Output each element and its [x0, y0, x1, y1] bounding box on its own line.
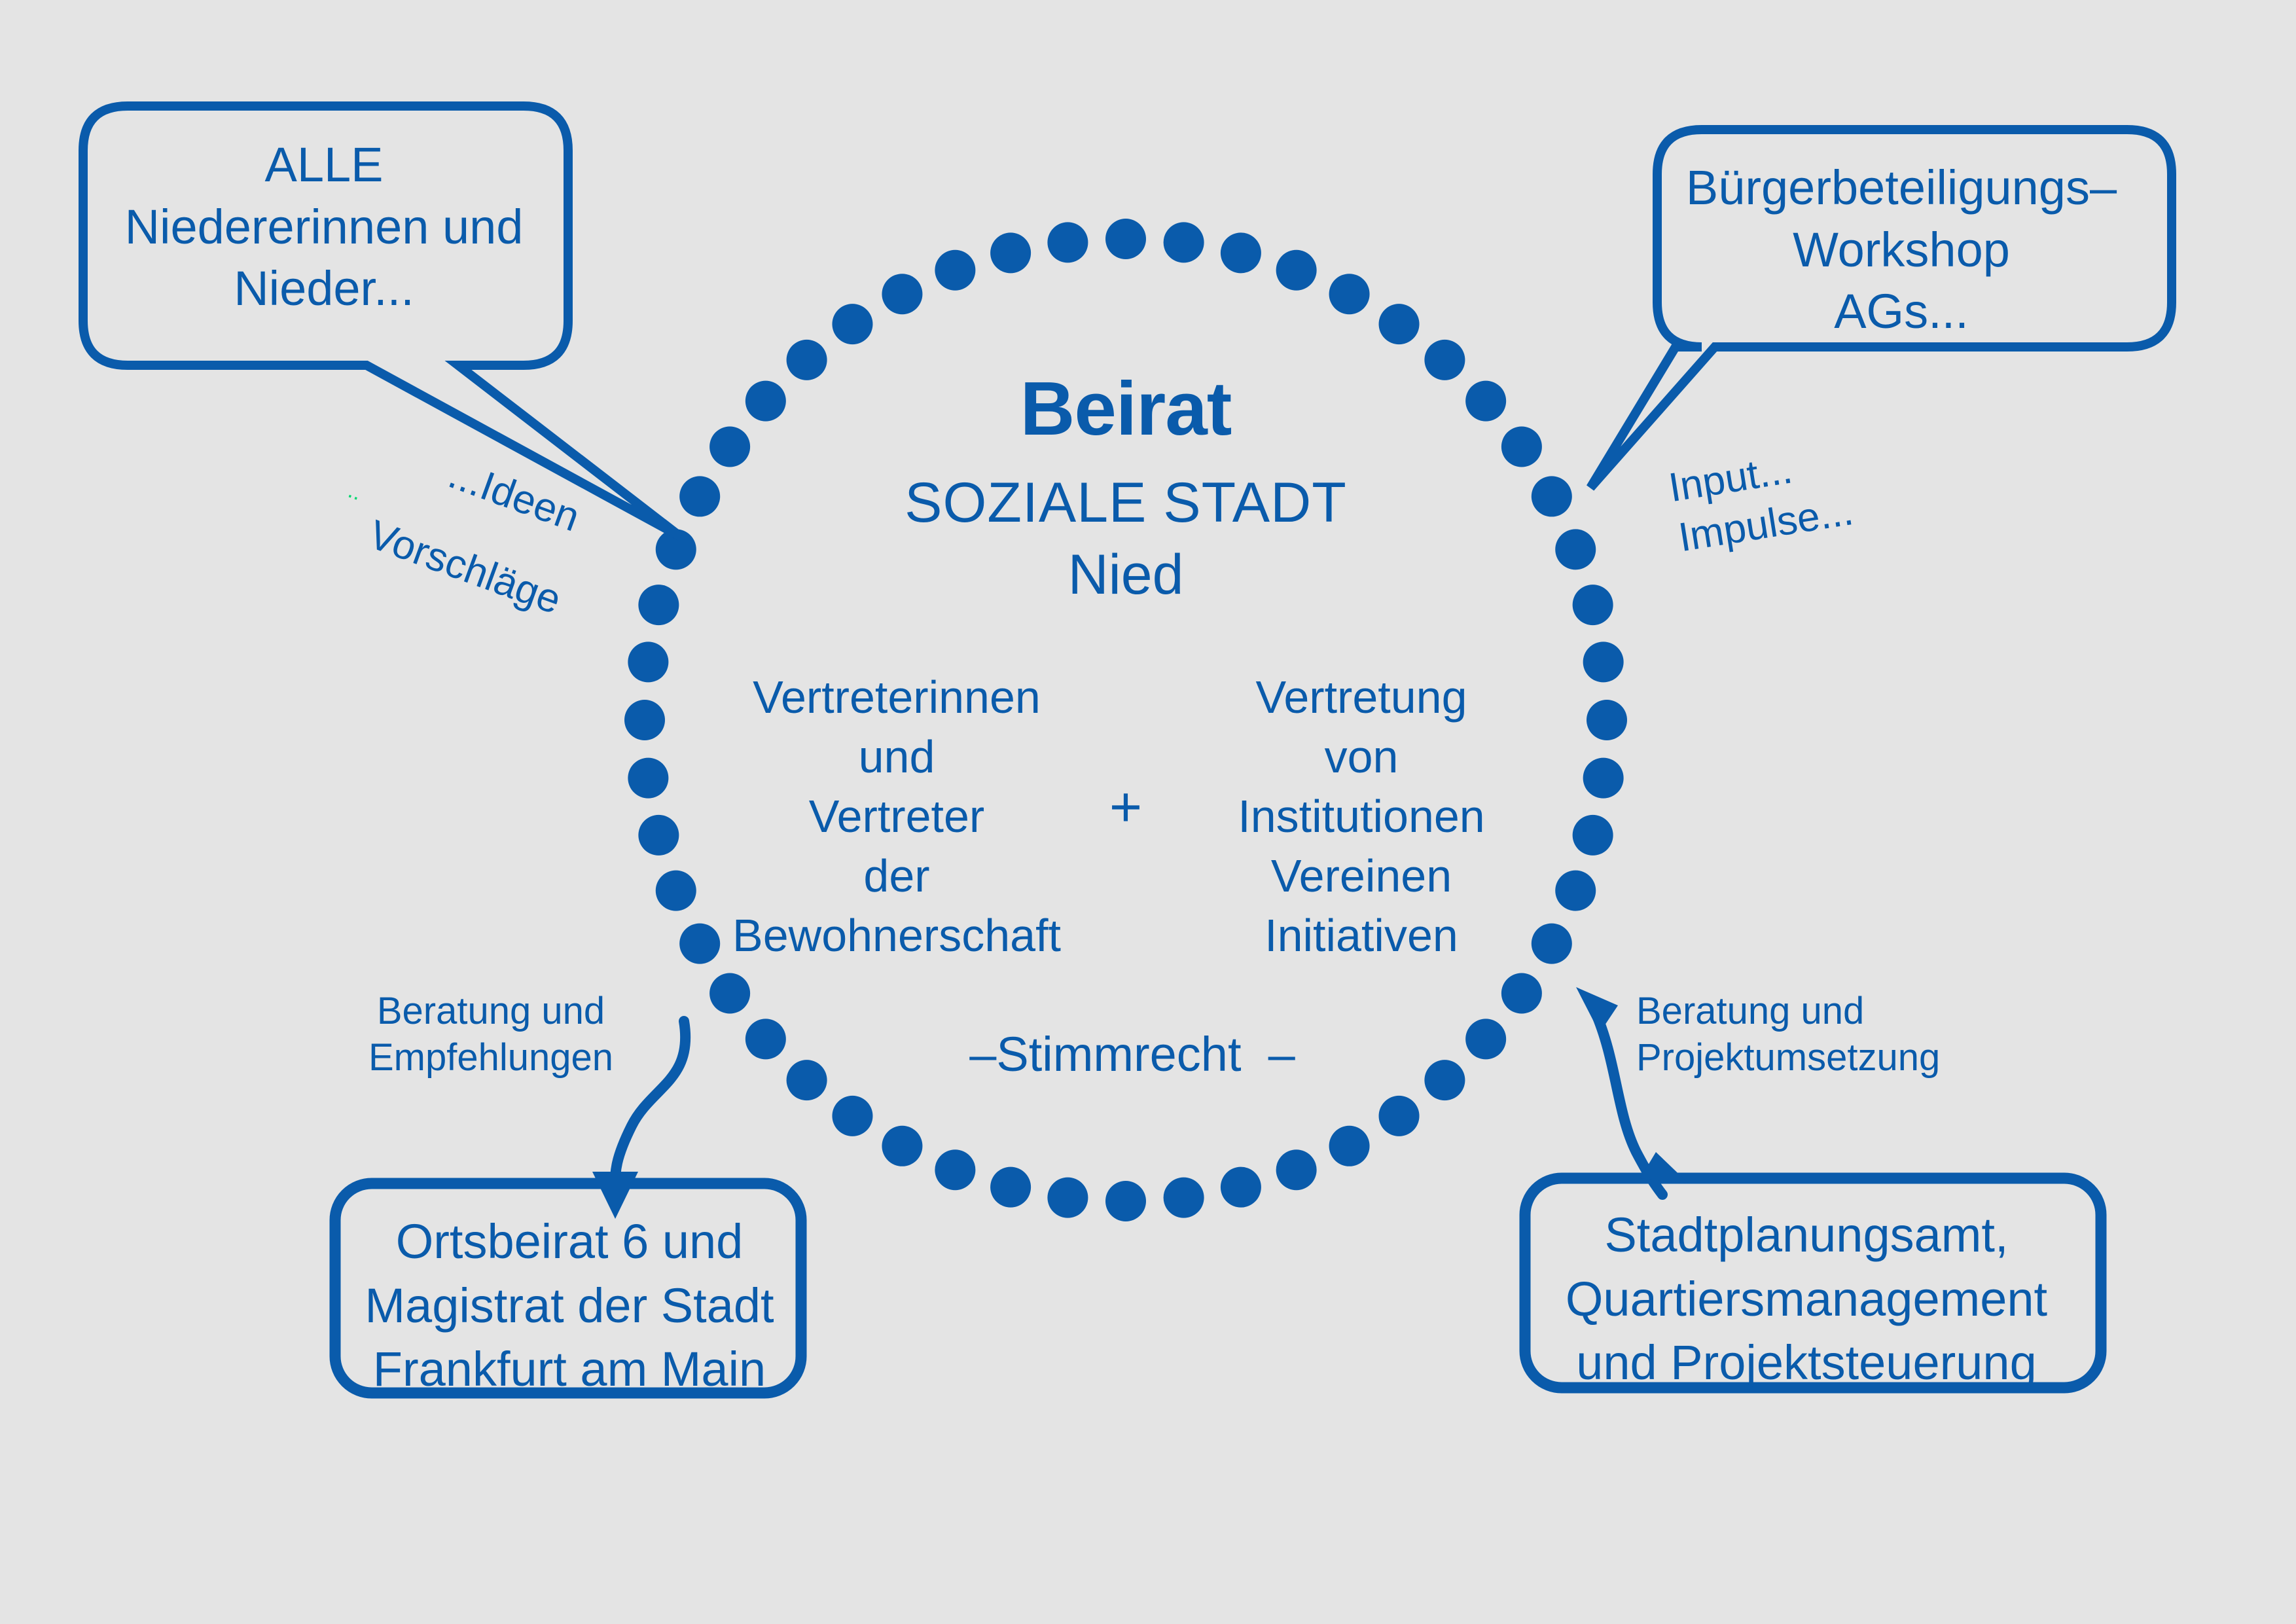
ring-dot: [1105, 219, 1146, 259]
ring-dot: [1276, 250, 1317, 291]
ring-dot: [628, 758, 668, 799]
ring-dot: [990, 1167, 1031, 1208]
ring-dot: [1587, 700, 1627, 740]
box-bottom-right-label: Stadtplanungsamt, Quartiersmanagement un…: [1525, 1203, 2088, 1395]
stimmrecht-note: –Stimmrecht –: [929, 1028, 1335, 1082]
ring-dot: [787, 1060, 827, 1100]
diagram-canvas: Beirat SOZIALE STADT Nied Vertreterinnen…: [0, 0, 2296, 1624]
member-column-institutions: Vertretung von Institutionen Vereinen In…: [1178, 668, 1545, 965]
annotation-beratung-projektumsetzung: Beratung und Projektumsetzung: [1636, 988, 1964, 1081]
bubble-top-right-label: Bürgerbeteiligungs– Workshop AGs...: [1666, 157, 2137, 343]
ring-dot: [1221, 1167, 1261, 1208]
bubble-top-left-label: ALLE Niedererinnen und Nieder...: [88, 134, 560, 320]
ring-dot: [1583, 641, 1624, 682]
ring-dot: [1583, 758, 1624, 799]
subtitle-nied: Nied: [733, 543, 1518, 606]
ring-dot: [832, 1096, 872, 1136]
ring-dot: [709, 973, 750, 1014]
ring-dot: [1221, 232, 1261, 273]
ring-dot: [1047, 1178, 1088, 1218]
subtitle-soziale-stadt: SOZIALE STADT: [733, 471, 1518, 534]
page-title: Beirat: [733, 367, 1518, 452]
ring-dot: [1164, 222, 1204, 262]
ring-dot: [935, 1149, 975, 1190]
plus-operator: +: [1073, 776, 1178, 839]
ring-dot: [935, 250, 975, 291]
member-column-residents: Vertreterinnen und Vertreter der Bewohne…: [694, 668, 1100, 965]
ring-dot: [882, 1126, 922, 1166]
ring-dot: [1532, 476, 1572, 516]
ring-dot: [1047, 222, 1088, 262]
ring-dot: [1164, 1178, 1204, 1218]
arrow-head-right-down: [1640, 1152, 1689, 1183]
ring-dot: [656, 871, 696, 911]
ring-dot: [638, 585, 679, 625]
annotation-beratung-empfehlungen: Beratung und Empfehlungen: [353, 988, 628, 1081]
ring-dot: [628, 641, 668, 682]
ring-dot: [1329, 1126, 1370, 1166]
ring-dot: [1465, 1019, 1506, 1059]
ring-dot: [882, 274, 922, 314]
ring-dot: [1424, 1060, 1465, 1100]
ring-dot: [1276, 1149, 1317, 1190]
arrow-head-right-up: [1576, 987, 1618, 1033]
box-bottom-left-label: Ortsbeirat 6 und Magistrat der Stadt Fra…: [340, 1210, 798, 1401]
ring-dot: [1501, 973, 1542, 1014]
ring-dot: [1555, 529, 1596, 569]
ring-dot: [624, 700, 665, 740]
ring-dot: [832, 304, 872, 344]
ring-dot: [1573, 585, 1613, 625]
ring-dot: [638, 815, 679, 856]
ring-dot: [1379, 304, 1420, 344]
ring-dot: [1329, 274, 1370, 314]
ring-dot: [1555, 871, 1596, 911]
ring-dot: [1105, 1181, 1146, 1221]
ring-dot: [745, 1019, 786, 1059]
ring-dot: [1573, 815, 1613, 856]
ring-dot: [679, 476, 720, 516]
ring-dot: [990, 232, 1031, 273]
ring-dot: [1379, 1096, 1420, 1136]
